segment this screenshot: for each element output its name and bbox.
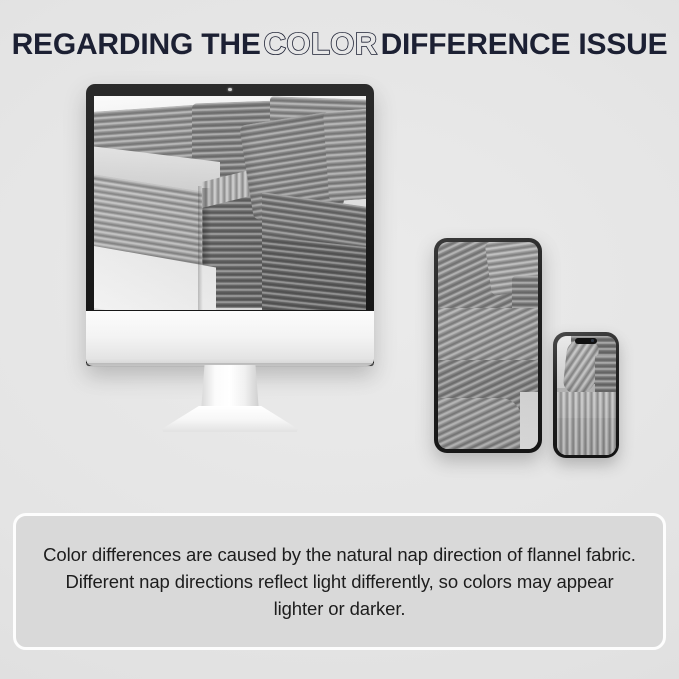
smartphone [553,332,619,458]
desktop-monitor [86,84,374,384]
device-mockup-group [0,0,679,500]
monitor-screen [94,96,366,310]
sofa-photo-monitor [94,96,366,310]
phone-screen [557,336,616,455]
monitor-stand-neck [201,365,259,412]
caption-box: Color differences are caused by the natu… [13,513,666,650]
page-background: REGARDING THECOLORDIFFERENCE ISSUE [0,0,679,679]
webcam-icon [228,88,231,91]
phone-notch [575,338,597,345]
tablet [434,238,542,453]
monitor-chin [86,311,374,366]
sofa-photo-phone [557,336,616,455]
tablet-screen [438,242,538,449]
front-camera-icon [591,339,594,342]
monitor-stand-base [162,406,298,432]
sofa-photo-tablet [438,242,538,449]
caption-text: Color differences are caused by the natu… [16,541,663,622]
